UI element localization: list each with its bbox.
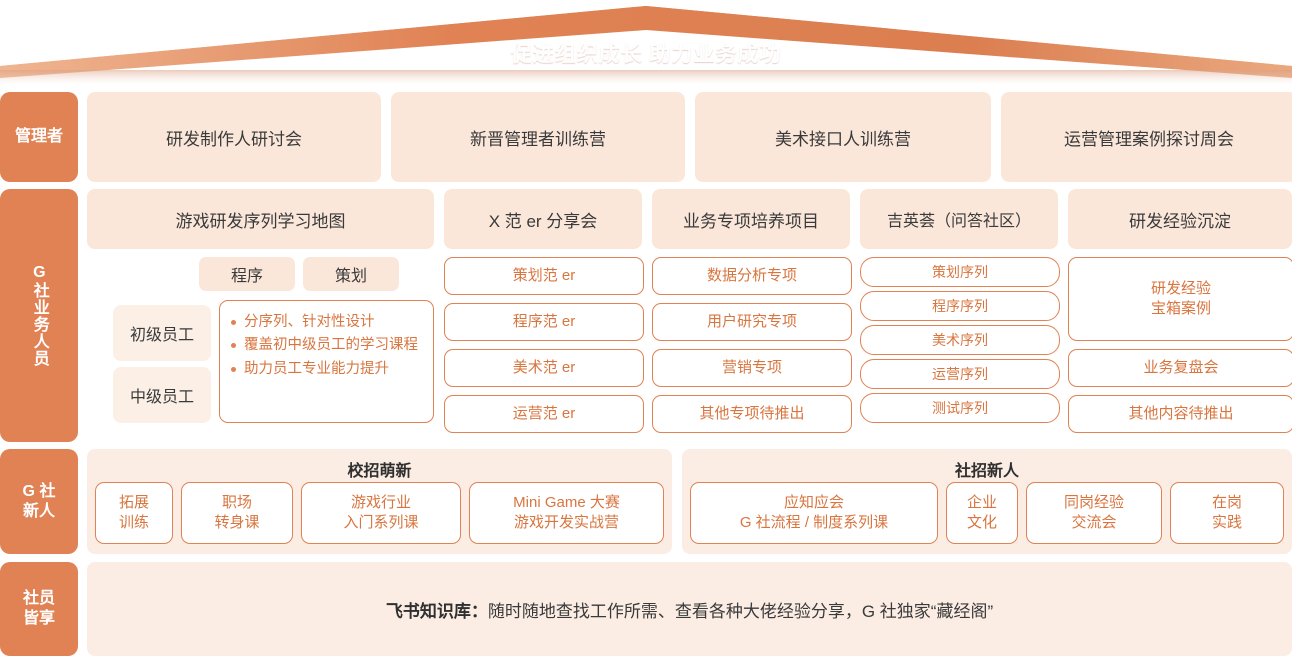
qa-sequence-item[interactable]: 测试序列: [860, 393, 1060, 423]
special-program-item[interactable]: 营销专项: [652, 349, 852, 387]
x-fan-er-item[interactable]: 策划范 er: [444, 257, 644, 295]
roof-banner: 促进组织成长 助力业务成功: [0, 0, 1292, 84]
campus-hire-card-list: 拓展 训练 职场 转身课 游戏行业 入门系列课 Mini Game 大赛 游戏开…: [95, 482, 664, 544]
column-header-learning-map[interactable]: 游戏研发序列学习地图: [87, 189, 434, 249]
social-hire-card[interactable]: 应知应会 G 社流程 / 制度系列课: [690, 482, 938, 544]
campus-hire-card[interactable]: 职场 转身课: [181, 482, 293, 544]
rd-experience-item[interactable]: 研发经验 宝箱案例: [1068, 257, 1292, 341]
manager-card[interactable]: 新晋管理者训练营: [391, 92, 685, 182]
x-fan-er-item[interactable]: 程序范 er: [444, 303, 644, 341]
business-staff-columns: 游戏研发序列学习地图 程序 策划 初级员工 中级员工 分序列、针对性设计 覆盖初…: [87, 189, 1292, 442]
column-header-special-programs[interactable]: 业务专项培养项目: [652, 189, 850, 249]
special-program-item[interactable]: 其他专项待推出: [652, 395, 852, 433]
row-business-staff: G社业务人员 游戏研发序列学习地图 程序 策划 初级员工 中级员工 分序列、针对…: [0, 189, 1292, 442]
campus-hire-card[interactable]: Mini Game 大赛 游戏开发实战营: [469, 482, 664, 544]
qa-sequence-item[interactable]: 运营序列: [860, 359, 1060, 389]
qa-sequence-item[interactable]: 程序序列: [860, 291, 1060, 321]
x-fan-er-item[interactable]: 美术范 er: [444, 349, 644, 387]
campus-hire-card[interactable]: 游戏行业 入门系列课: [301, 482, 461, 544]
special-program-item[interactable]: 数据分析专项: [652, 257, 852, 295]
sidebar-item-new-hires[interactable]: G 社 新人: [0, 449, 78, 554]
social-hire-card-list: 应知应会 G 社流程 / 制度系列课 企业 文化 同岗经验 交流会 在岗 实践: [690, 482, 1284, 544]
tag-planning[interactable]: 策划: [303, 257, 399, 291]
row-all-members: 社员 皆享 飞书知识库：随时随地查找工作所需、查看各种大佬经验分享，G 社独家“…: [0, 562, 1292, 656]
learning-map-bullets: 分序列、针对性设计 覆盖初中级员工的学习课程 助力员工专业能力提升: [219, 300, 434, 423]
page-title: 促进组织成长 助力业务成功: [0, 38, 1292, 68]
group-campus-hire: 校招萌新 拓展 训练 职场 转身课 游戏行业 入门系列课 Mini Game 大…: [87, 449, 672, 554]
manager-card[interactable]: 美术接口人训练营: [695, 92, 991, 182]
sidebar-item-all-members[interactable]: 社员 皆享: [0, 562, 78, 656]
row-managers: 管理者 研发制作人研讨会 新晋管理者训练营 美术接口人训练营 运营管理案例探讨周…: [0, 92, 1292, 182]
group-title-social-hire: 社招新人: [682, 457, 1292, 481]
new-hire-groups: 校招萌新 拓展 训练 职场 转身课 游戏行业 入门系列课 Mini Game 大…: [87, 449, 1292, 554]
manager-card[interactable]: 运营管理案例探讨周会: [1001, 92, 1292, 182]
manager-card[interactable]: 研发制作人研讨会: [87, 92, 381, 182]
rd-experience-item[interactable]: 其他内容待推出: [1068, 395, 1292, 433]
column-header-rd-experience[interactable]: 研发经验沉淀: [1068, 189, 1292, 249]
knowledge-base-banner[interactable]: 飞书知识库：随时随地查找工作所需、查看各种大佬经验分享，G 社独家“藏经阁”: [87, 562, 1292, 656]
knowledge-base-label: 飞书知识库：: [386, 602, 488, 621]
bullet-item: 分序列、针对性设计: [244, 311, 421, 334]
row-new-hires: G 社 新人 校招萌新 拓展 训练 职场 转身课 游戏行业 入门系列课 Mini…: [0, 449, 1292, 554]
column-header-qa-community[interactable]: 吉英荟（问答社区）: [860, 189, 1058, 249]
sidebar-label-vertical: G社业务人员: [28, 264, 50, 367]
campus-hire-card[interactable]: 拓展 训练: [95, 482, 173, 544]
sidebar-item-business-staff[interactable]: G社业务人员: [0, 189, 78, 442]
group-social-hire: 社招新人 应知应会 G 社流程 / 制度系列课 企业 文化 同岗经验 交流会 在…: [682, 449, 1292, 554]
level-junior[interactable]: 初级员工: [113, 305, 211, 361]
bullet-item: 助力员工专业能力提升: [244, 358, 421, 381]
level-intermediate[interactable]: 中级员工: [113, 367, 211, 423]
sidebar-item-managers[interactable]: 管理者: [0, 92, 78, 182]
infographic-root: 促进组织成长 助力业务成功 管理者 研发制作人研讨会 新晋管理者训练营 美术接口…: [0, 0, 1292, 666]
qa-sequence-item[interactable]: 美术序列: [860, 325, 1060, 355]
manager-card-list: 研发制作人研讨会 新晋管理者训练营 美术接口人训练营 运营管理案例探讨周会: [87, 92, 1292, 182]
column-header-x-fan-er[interactable]: X 范 er 分享会: [444, 189, 642, 249]
knowledge-base-description: 随时随地查找工作所需、查看各种大佬经验分享，G 社独家“藏经阁”: [488, 602, 993, 621]
rd-experience-item[interactable]: 业务复盘会: [1068, 349, 1292, 387]
group-title-campus-hire: 校招萌新: [87, 457, 672, 481]
x-fan-er-item[interactable]: 运营范 er: [444, 395, 644, 433]
social-hire-card[interactable]: 同岗经验 交流会: [1026, 482, 1162, 544]
tag-program[interactable]: 程序: [199, 257, 295, 291]
special-program-item[interactable]: 用户研究专项: [652, 303, 852, 341]
qa-sequence-item[interactable]: 策划序列: [860, 257, 1060, 287]
social-hire-card[interactable]: 在岗 实践: [1170, 482, 1284, 544]
bullet-item: 覆盖初中级员工的学习课程: [244, 334, 421, 357]
social-hire-card[interactable]: 企业 文化: [946, 482, 1018, 544]
